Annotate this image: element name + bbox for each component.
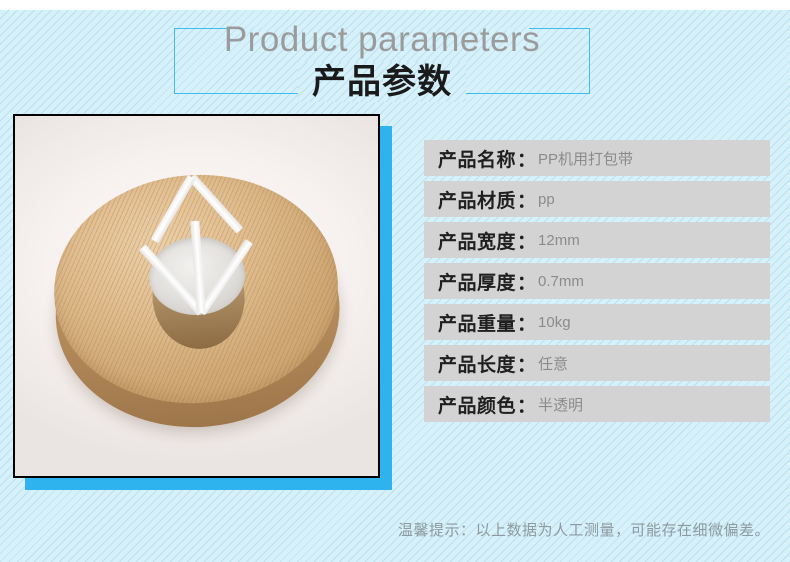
parameter-colon: ： <box>517 227 536 254</box>
parameter-row: 产品重量：10kg <box>424 304 770 340</box>
parameter-row: 产品长度：任意 <box>424 345 770 381</box>
product-photo-frame[interactable] <box>13 114 380 478</box>
parameter-value: 10kg <box>538 314 571 331</box>
parameter-colon: ： <box>517 186 536 213</box>
parameter-label: 产品宽度 <box>438 227 516 254</box>
parameter-row: 产品颜色：半透明 <box>424 386 770 422</box>
parameter-value: pp <box>538 191 555 208</box>
parameter-label: 产品厚度 <box>438 268 516 295</box>
parameter-value: 0.7mm <box>538 273 584 290</box>
parameter-label: 产品长度 <box>438 350 516 377</box>
parameter-label: 产品颜色 <box>438 391 516 418</box>
pp-strapping-coil-image <box>37 153 356 453</box>
parameter-row: 产品宽度：12mm <box>424 222 770 258</box>
parameter-value: 半透明 <box>538 394 583 415</box>
parameter-value: 12mm <box>538 232 580 249</box>
parameter-row: 产品名称：PP机用打包带 <box>424 140 770 176</box>
parameter-colon: ： <box>517 145 536 172</box>
page-title-english: Product parameters <box>174 19 590 61</box>
parameter-value: PP机用打包带 <box>538 148 633 169</box>
parameter-colon: ： <box>517 350 536 377</box>
parameter-table: 产品名称：PP机用打包带产品材质：pp产品宽度：12mm产品厚度：0.7mm产品… <box>424 140 770 427</box>
parameter-label: 产品重量 <box>438 309 516 336</box>
parameter-label: 产品材质 <box>438 186 516 213</box>
parameter-row: 产品材质：pp <box>424 181 770 217</box>
footer-disclaimer-note: 温馨提示：以上数据为人工测量，可能存在细微偏差。 <box>0 519 770 540</box>
parameter-value: 任意 <box>538 353 568 374</box>
parameter-colon: ： <box>517 309 536 336</box>
page-title-chinese: 产品参数 <box>298 62 466 102</box>
page-title-chinese-wrap: 产品参数 <box>174 62 590 102</box>
parameter-colon: ： <box>517 268 536 295</box>
parameter-row: 产品厚度：0.7mm <box>424 263 770 299</box>
product-photo-background <box>15 116 378 476</box>
parameter-colon: ： <box>517 391 536 418</box>
parameter-label: 产品名称 <box>438 145 516 172</box>
product-parameters-page: Product parameters 产品参数 产品名称：PP机用打包带产品材质… <box>0 0 790 562</box>
